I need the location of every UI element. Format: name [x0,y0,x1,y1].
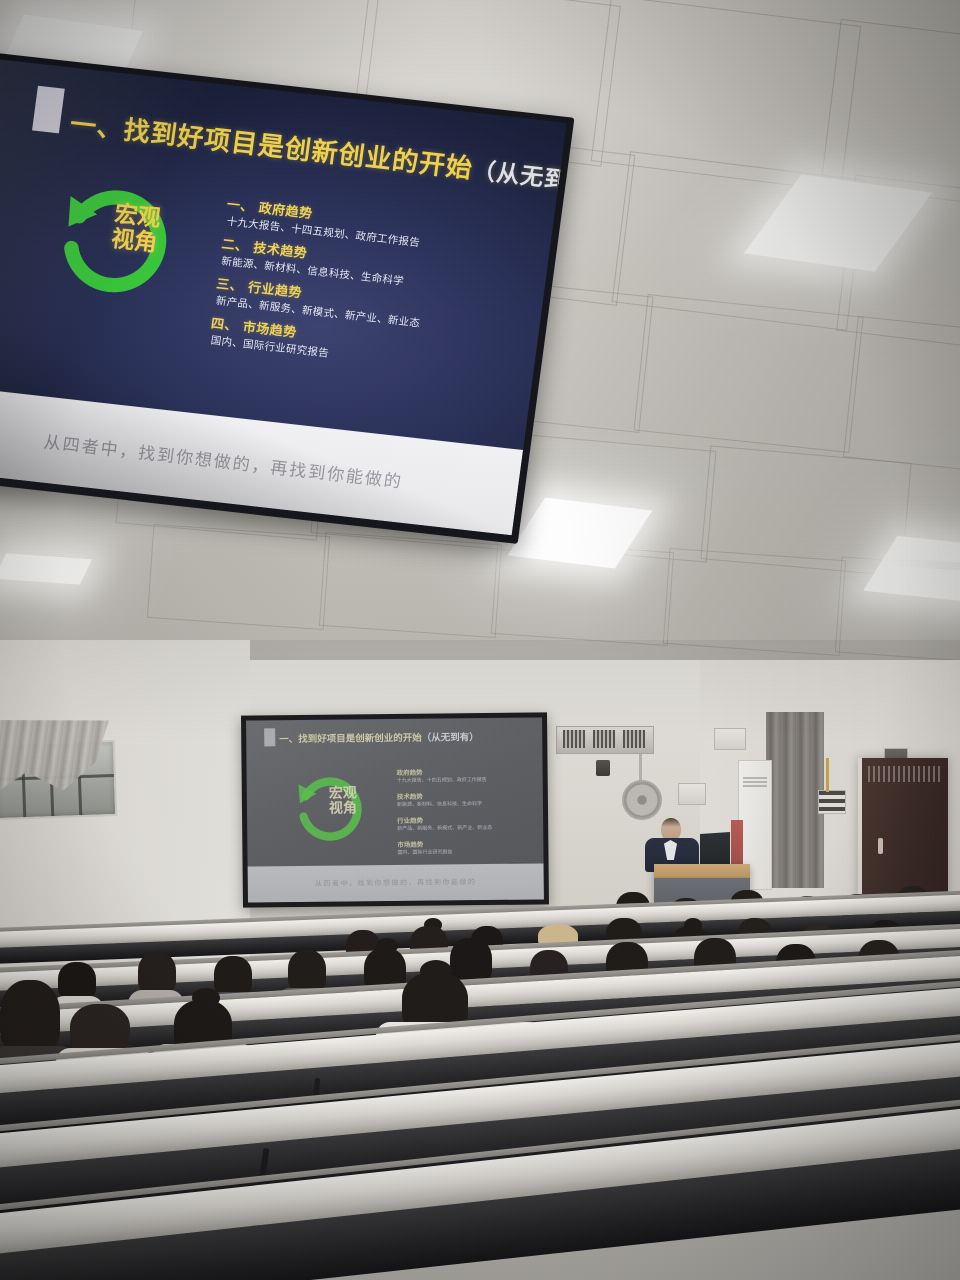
slide-title-number: 一、 [68,109,126,145]
wall-control-box [678,783,706,805]
tv-screen: 一、找到好项目是创新创业的开始（从无到有） 宏观 视角 一、政府趋势 [0,59,567,536]
door-grille [868,766,942,782]
proj-bullet-list: 政府趋势 十九大报告、十四五规划、政府工作报告 技术趋势 新能源、新材料、信息科… [397,766,538,863]
projection-screen: 一、找到好项目是创新创业的开始（从无到有） 宏观 视角 政府趋势 十九大报告、十… [246,717,544,902]
slide-bullet-number: 二、 [221,236,250,254]
vent-grille [563,730,585,748]
proj-ring-label-line2: 视角 [313,801,373,817]
fan-rod [639,754,642,782]
proj-ring-label: 宏观 视角 [313,785,373,816]
proj-bullet-item: 市场趋势 国内、国际行业研究报告 [397,838,537,856]
proj-bullet-sub: 新产品、新服务、新模式、新产业、新业态 [397,824,537,832]
slide-footer-text: 从四者中，找到你想做的，再找到你能做的 [0,416,405,492]
proj-title-paren: （从无到有） [422,732,479,744]
proj-bullet-item: 政府趋势 十九大报告、十四五规划、政府工作报告 [397,766,537,784]
proj-bullet-sub: 十九大报告、十四五规划、政府工作报告 [397,776,537,784]
slide-title-paren: （从无到有） [471,157,567,199]
ceiling-tile [319,532,502,638]
student-hair [0,980,60,1054]
proj-footer-text: 从四者中，找到你想做的，再找到你能做的 [315,877,477,889]
laptop [700,832,730,868]
student-hair [214,956,252,996]
flag [731,820,743,870]
wall-speaker [596,760,610,776]
proj-footer-bar: 从四者中，找到你想做的，再找到你能做的 [248,863,544,902]
projection-screen-frame: 一、找到好项目是创新创业的开始（从无到有） 宏观 视角 政府趋势 十九大报告、十… [241,712,549,907]
ceiling-mounted-tv: 一、找到好项目是创新创业的开始（从无到有） 宏观 视角 一、政府趋势 [0,52,574,544]
proj-slide-marker [264,728,275,746]
proj-bullet-sub: 国内、国际行业研究报告 [397,848,537,856]
ceiling-tile [843,316,960,476]
proj-ring-label-line1: 宏观 [313,785,373,801]
wall-rod [826,758,829,792]
wall-vent-rail [556,726,654,754]
wall-electrical-panel [714,728,746,750]
slide-bullet-number: 一、 [226,197,255,215]
vent-grille [623,730,645,748]
ceiling-tile [663,548,846,656]
ceiling-tile [147,524,330,630]
lecture-hall-photo: 一、找到好项目是创新创业的开始（从无到有） 宏观 视角 一、政府趋势 [0,0,960,1280]
proj-slide-title: 一、找到好项目是创新创业的开始（从无到有） [279,729,479,745]
proj-title-main: 找到好项目是创新创业的开始 [298,733,422,745]
ceiling-tile [633,294,863,453]
slide-title: 一、找到好项目是创新创业的开始（从无到有） [68,104,530,192]
door-handle[interactable] [878,838,883,854]
slide-bullet-list: 一、政府趋势 十九大报告、十四五规划、政府工作报告 二、技术趋势 新能源、新材料… [207,194,526,386]
student-hair [288,950,326,992]
tv-bezel: 一、找到好项目是创新创业的开始（从无到有） 宏观 视角 一、政府趋势 [0,52,574,544]
proj-bullet-sub: 新能源、新材料、信息科技、生命科学 [397,800,537,808]
slide-bullet-number: 三、 [215,276,244,294]
slide-title-main: 找到好项目是创新创业的开始 [122,115,475,184]
ceiling-light-panel [0,553,92,584]
proj-bullet-item: 行业趋势 新产品、新服务、新模式、新产业、新业态 [397,814,537,832]
ring-label: 宏观 视角 [88,199,184,258]
proj-title-number: 一、 [279,734,298,745]
vent-grille [593,730,615,748]
wall-plaque [818,790,846,814]
student-hair [138,952,176,994]
ceiling-fan-icon [622,780,662,820]
slide-bullet-marker [32,86,65,134]
wall-curtain [766,712,824,888]
proj-bullet-item: 技术趋势 新能源、新材料、信息科技、生命科学 [397,790,537,808]
ac-vent-grille [743,777,767,787]
slide-bullet-number: 四、 [210,316,239,334]
